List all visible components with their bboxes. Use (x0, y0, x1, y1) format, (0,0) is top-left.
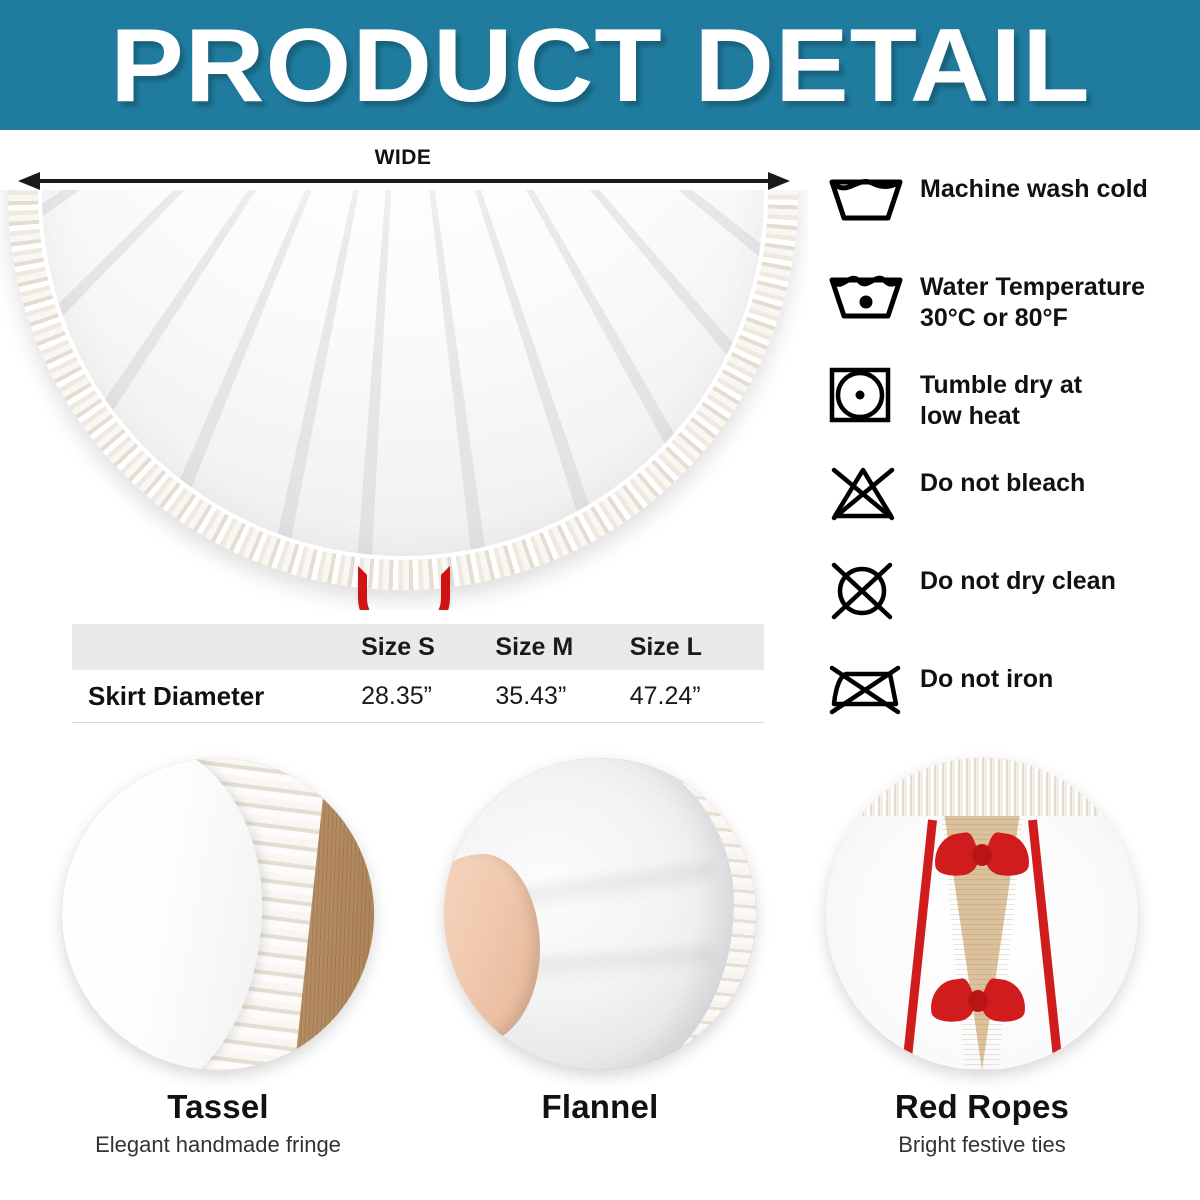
feature-flannel: Flannel (430, 758, 770, 1132)
column-header-size-s: Size S (361, 624, 495, 670)
skirt-sheen (42, 190, 764, 556)
care-label-tumble-dry-low: Tumble dry at low heat (906, 364, 1082, 432)
feature-red-ropes-title: Red Ropes (812, 1088, 1152, 1126)
table-row: Skirt Diameter 28.35” 35.43” 47.24” (72, 670, 764, 723)
care-label-do-not-bleach: Do not bleach (906, 462, 1085, 499)
bow-knot (968, 990, 988, 1012)
care-instructions-list: Machine wash cold Water Temperature 30°C… (828, 168, 1200, 756)
column-header-blank (72, 624, 361, 670)
feature-tassel-image (62, 758, 374, 1070)
table-header: Size S Size M Size L (72, 624, 764, 670)
cell-diameter-size-l: 47.24” (630, 670, 764, 723)
care-label-machine-wash-cold: Machine wash cold (906, 168, 1148, 205)
feature-tassel-subtitle: Elegant handmade fringe (48, 1132, 388, 1158)
care-label-water-temperature: Water Temperature 30°C or 80°F (906, 266, 1145, 334)
page-title: PRODUCT DETAIL (110, 14, 1090, 118)
red-rope-loop-icon (358, 566, 450, 610)
care-item-machine-wash-cold: Machine wash cold (828, 168, 1200, 266)
care-label-tumble-dry-low-line2: low heat (920, 401, 1082, 432)
do-not-bleach-icon (828, 462, 906, 522)
feature-red-ropes-subtitle: Bright festive ties (812, 1132, 1152, 1158)
tree-skirt-graphic (8, 190, 798, 590)
cell-diameter-size-s: 28.35” (361, 670, 495, 723)
care-label-water-temperature-line1: Water Temperature (920, 272, 1145, 303)
fringe-top-edge (826, 758, 1138, 816)
feature-tassel-title: Tassel (48, 1088, 388, 1126)
feature-tassel: Tassel Elegant handmade fringe (48, 758, 388, 1158)
care-item-do-not-iron: Do not iron (828, 658, 1200, 756)
care-label-do-not-iron: Do not iron (906, 658, 1053, 695)
do-not-dry-clean-icon (828, 560, 906, 620)
cell-diameter-size-m: 35.43” (495, 670, 629, 723)
header-banner: PRODUCT DETAIL (0, 0, 1200, 130)
wash-tub-icon (828, 168, 906, 228)
care-item-water-temperature: Water Temperature 30°C or 80°F (828, 266, 1200, 364)
tumble-dry-low-icon (828, 364, 906, 424)
feature-red-ropes: Red Ropes Bright festive ties (812, 758, 1152, 1158)
care-label-do-not-dry-clean: Do not dry clean (906, 560, 1116, 597)
size-chart-table: Size S Size M Size L Skirt Diameter 28.3… (72, 624, 764, 723)
care-item-do-not-dry-clean: Do not dry clean (828, 560, 1200, 658)
do-not-iron-icon (828, 658, 906, 718)
bow-knot (972, 844, 992, 866)
feature-flannel-image (444, 758, 756, 1070)
feature-red-ropes-image (826, 758, 1138, 1070)
table-header-row: Size S Size M Size L (72, 624, 764, 670)
row-label-skirt-diameter: Skirt Diameter (72, 670, 361, 723)
column-header-size-m: Size M (495, 624, 629, 670)
product-main-image (0, 190, 808, 610)
wide-measure-label: WIDE (0, 146, 806, 170)
feature-flannel-title: Flannel (430, 1088, 770, 1126)
care-item-do-not-bleach: Do not bleach (828, 462, 1200, 560)
care-label-tumble-dry-low-line1: Tumble dry at (920, 370, 1082, 401)
red-bow-top (934, 834, 1030, 878)
skirt-fabric-edge (62, 758, 262, 1070)
column-header-size-l: Size L (630, 624, 764, 670)
care-item-tumble-dry-low: Tumble dry at low heat (828, 364, 1200, 462)
wash-tub-one-dot-icon (828, 266, 906, 326)
table-body: Skirt Diameter 28.35” 35.43” 47.24” (72, 670, 764, 723)
red-bow-bottom (930, 980, 1026, 1024)
care-label-water-temperature-line2: 30°C or 80°F (920, 303, 1145, 334)
